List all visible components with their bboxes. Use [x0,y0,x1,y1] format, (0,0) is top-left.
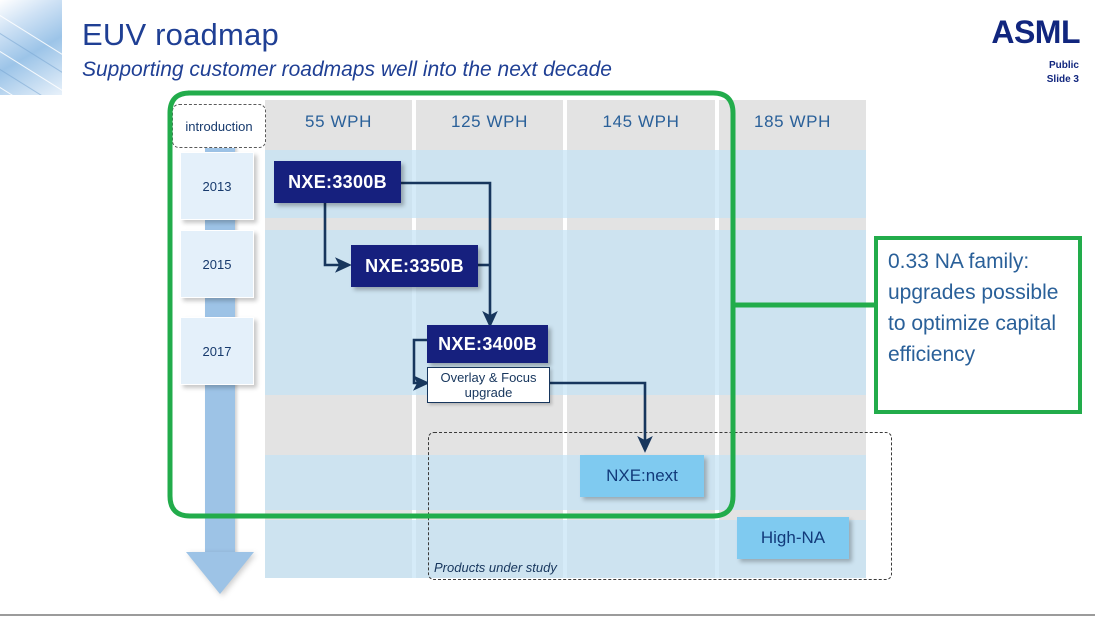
overlay-upgrade-line1: Overlay & Focus [440,370,536,385]
products-under-study-label: Products under study [434,560,557,575]
classification-label: Public [1049,60,1079,71]
decorative-corner-graphic [0,0,62,95]
column-header-1: 125 WPH [416,100,563,144]
asml-logo: ASML [991,14,1080,51]
product-box-high-na[interactable]: High-NA [737,517,849,559]
year-box-2015: 2015 [180,230,254,298]
product-box-nxe3300b[interactable]: NXE:3300B [274,161,401,203]
year-box-2017: 2017 [180,317,254,385]
na-family-callout: 0.33 NA family: upgrades possible to opt… [874,236,1082,414]
timeline-arrow-head [186,552,254,594]
overlay-upgrade-line2: upgrade [465,385,513,400]
column-header-0: 55 WPH [265,100,412,144]
footer-divider [0,614,1095,616]
product-box-overlay-focus-upgrade[interactable]: Overlay & Focus upgrade [427,367,550,403]
slide-canvas: EUV roadmap Supporting customer roadmaps… [0,0,1095,621]
year-box-2013: 2013 [180,152,254,220]
introduction-label-box: introduction [172,104,266,148]
column-header-2: 145 WPH [567,100,715,144]
page-title: EUV roadmap [82,17,279,53]
column-header-3: 185 WPH [719,100,866,144]
product-box-nxe3350b[interactable]: NXE:3350B [351,245,478,287]
slide-number-label: Slide 3 [1047,74,1079,85]
product-box-nxe-next[interactable]: NXE:next [580,455,704,497]
page-subtitle: Supporting customer roadmaps well into t… [82,58,612,82]
product-box-nxe3400b[interactable]: NXE:3400B [427,325,548,363]
